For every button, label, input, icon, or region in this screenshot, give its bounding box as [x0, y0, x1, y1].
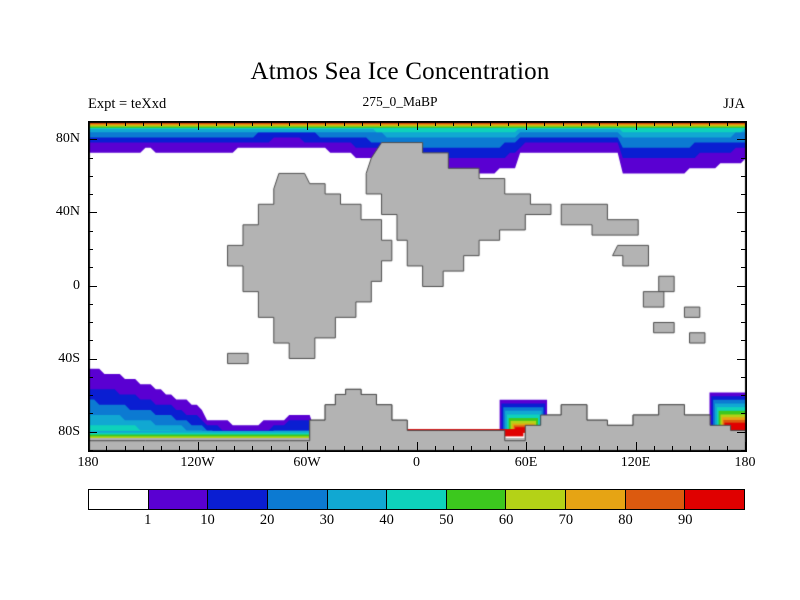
x-tick-top — [435, 121, 436, 126]
x-tick-top — [289, 121, 290, 126]
y-tick — [88, 194, 93, 195]
colorbar-segment-orange-red — [626, 490, 686, 509]
y-tick — [88, 432, 97, 433]
colorbar-segment-red — [685, 490, 744, 509]
x-tick-top — [490, 121, 491, 126]
x-tick — [709, 446, 710, 451]
season-label: JJA — [723, 96, 745, 113]
page-title: Atmos Sea Ice Concentration — [0, 58, 800, 86]
x-tick-top — [727, 121, 728, 126]
y-tick-right — [741, 413, 746, 414]
y-axis-tick-label: 80S — [30, 424, 80, 440]
y-tick-right — [741, 249, 746, 250]
x-tick-top — [745, 121, 746, 130]
y-tick-right — [741, 158, 746, 159]
colorbar-tick-label: 80 — [618, 512, 633, 529]
colorbar-segment-white — [89, 490, 149, 509]
x-tick-top — [709, 121, 710, 126]
colorbar — [88, 489, 745, 510]
y-tick — [88, 340, 93, 341]
x-tick — [526, 442, 527, 451]
colorbar-tick-label: 90 — [678, 512, 693, 529]
colorbar-swatches — [88, 489, 745, 510]
x-tick — [544, 446, 545, 451]
x-tick — [198, 442, 199, 451]
colorbar-tick-label: 70 — [559, 512, 574, 529]
y-tick — [88, 413, 93, 414]
x-tick-top — [252, 121, 253, 126]
x-tick-top — [417, 121, 418, 130]
y-tick-right — [737, 286, 746, 287]
y-tick — [88, 286, 97, 287]
x-tick-top — [636, 121, 637, 130]
x-tick — [216, 446, 217, 451]
map-plot-area — [88, 121, 747, 452]
x-tick-top — [453, 121, 454, 126]
x-tick-top — [125, 121, 126, 126]
x-tick — [636, 442, 637, 451]
y-tick-right — [741, 377, 746, 378]
colorbar-tick-label: 60 — [499, 512, 514, 529]
x-tick — [417, 442, 418, 451]
x-tick — [380, 446, 381, 451]
y-tick-right — [741, 267, 746, 268]
x-tick — [143, 446, 144, 451]
x-tick — [289, 446, 290, 451]
x-tick — [654, 446, 655, 451]
y-axis-tick-label: 40S — [30, 351, 80, 367]
y-tick-right — [741, 176, 746, 177]
y-tick — [88, 231, 93, 232]
colorbar-tick-label: 20 — [260, 512, 275, 529]
y-tick-right — [741, 395, 746, 396]
x-tick — [307, 442, 308, 451]
x-tick-top — [508, 121, 509, 126]
x-tick-top — [325, 121, 326, 126]
y-tick — [88, 176, 93, 177]
x-tick-top — [581, 121, 582, 126]
x-tick-top — [198, 121, 199, 130]
x-tick-top — [654, 121, 655, 126]
y-tick — [88, 249, 93, 250]
x-tick-top — [544, 121, 545, 126]
y-axis-tick-label: 80N — [30, 131, 80, 147]
colorbar-tick-label: 10 — [200, 512, 215, 529]
x-tick-top — [526, 121, 527, 130]
x-tick-top — [690, 121, 691, 126]
x-tick-top — [216, 121, 217, 126]
x-tick — [325, 446, 326, 451]
colorbar-segment-violet — [149, 490, 209, 509]
x-axis-tick-label: 0 — [413, 455, 420, 471]
y-tick-right — [741, 450, 746, 451]
colorbar-tick-label: 40 — [379, 512, 394, 529]
sea-ice-concentration-map — [89, 122, 746, 451]
x-axis-tick-label: 60W — [293, 455, 320, 471]
colorbar-segment-blue — [208, 490, 268, 509]
x-tick-top — [617, 121, 618, 126]
y-tick-right — [741, 340, 746, 341]
x-tick — [490, 446, 491, 451]
colorbar-tick-label: 50 — [439, 512, 454, 529]
x-tick-top — [471, 121, 472, 126]
y-tick-right — [741, 231, 746, 232]
time-period-label: 275_0_MaBP — [0, 94, 800, 110]
colorbar-segment-light-blue — [328, 490, 388, 509]
y-tick-right — [737, 359, 746, 360]
x-tick — [563, 446, 564, 451]
x-tick-top — [161, 121, 162, 126]
y-tick-right — [741, 322, 746, 323]
y-tick — [88, 158, 93, 159]
x-tick — [161, 446, 162, 451]
colorbar-segment-cyan — [387, 490, 447, 509]
x-tick — [344, 446, 345, 451]
y-tick — [88, 212, 97, 213]
x-axis-tick-label: 120W — [180, 455, 214, 471]
y-axis-tick-label: 0 — [30, 278, 80, 294]
x-axis-tick-label: 180 — [735, 455, 756, 471]
y-tick-right — [741, 121, 746, 122]
x-axis-tick-label: 60E — [515, 455, 538, 471]
x-tick — [599, 446, 600, 451]
colorbar-tick-label: 1 — [144, 512, 151, 529]
x-tick — [179, 446, 180, 451]
x-tick-top — [143, 121, 144, 126]
y-tick — [88, 450, 93, 451]
x-tick-top — [344, 121, 345, 126]
x-tick-top — [88, 121, 89, 130]
x-tick — [125, 446, 126, 451]
x-tick — [672, 446, 673, 451]
x-tick-top — [106, 121, 107, 126]
x-tick-top — [307, 121, 308, 130]
x-tick — [252, 446, 253, 451]
x-tick — [435, 446, 436, 451]
y-tick — [88, 322, 93, 323]
y-tick-right — [737, 432, 746, 433]
figure-root: Atmos Sea Ice Concentration Expt = teXxd… — [0, 0, 800, 600]
x-tick-top — [398, 121, 399, 126]
x-tick-top — [271, 121, 272, 126]
colorbar-tick-label: 30 — [320, 512, 335, 529]
x-tick-top — [672, 121, 673, 126]
x-tick — [362, 446, 363, 451]
x-tick-top — [234, 121, 235, 126]
y-tick-right — [737, 139, 746, 140]
y-tick — [88, 139, 97, 140]
x-tick-top — [563, 121, 564, 126]
y-tick — [88, 359, 97, 360]
y-tick — [88, 377, 93, 378]
y-tick-right — [741, 194, 746, 195]
x-tick — [690, 446, 691, 451]
colorbar-segment-medium-blue — [268, 490, 328, 509]
colorbar-segment-orange-yellow — [566, 490, 626, 509]
x-tick — [453, 446, 454, 451]
x-axis-tick-label: 180 — [78, 455, 99, 471]
x-tick-top — [599, 121, 600, 126]
x-tick — [471, 446, 472, 451]
x-tick — [617, 446, 618, 451]
x-tick — [727, 446, 728, 451]
x-tick — [234, 446, 235, 451]
y-tick — [88, 121, 93, 122]
y-tick — [88, 395, 93, 396]
y-axis-tick-label: 40N — [30, 204, 80, 220]
x-tick-top — [179, 121, 180, 126]
x-tick — [106, 446, 107, 451]
x-tick — [398, 446, 399, 451]
x-axis-tick-label: 120E — [621, 455, 651, 471]
y-tick — [88, 304, 93, 305]
y-tick-right — [741, 304, 746, 305]
x-tick-top — [362, 121, 363, 126]
y-tick — [88, 267, 93, 268]
y-tick-right — [737, 212, 746, 213]
colorbar-segment-yellow-green — [506, 490, 566, 509]
x-tick — [581, 446, 582, 451]
x-tick — [508, 446, 509, 451]
colorbar-segment-green — [447, 490, 507, 509]
x-tick-top — [380, 121, 381, 126]
x-tick — [271, 446, 272, 451]
